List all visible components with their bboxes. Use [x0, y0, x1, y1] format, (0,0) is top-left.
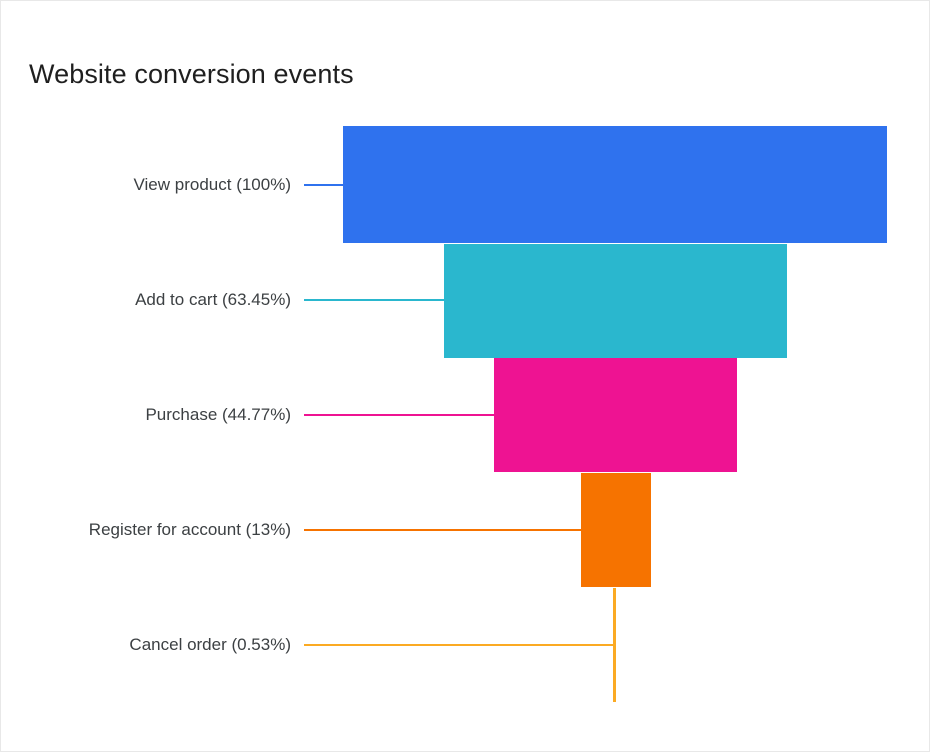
funnel-plot-area: View product (100%)Add to cart (63.45%)P… [1, 1, 930, 752]
funnel-bar[interactable] [613, 588, 616, 702]
funnel-chart-canvas: Website conversion events View product (… [0, 0, 930, 752]
funnel-leader-line [304, 644, 613, 646]
funnel-stage-label: Cancel order (0.53%) [129, 635, 291, 655]
funnel-stage[interactable]: Cancel order (0.53%) [1, 1, 930, 752]
